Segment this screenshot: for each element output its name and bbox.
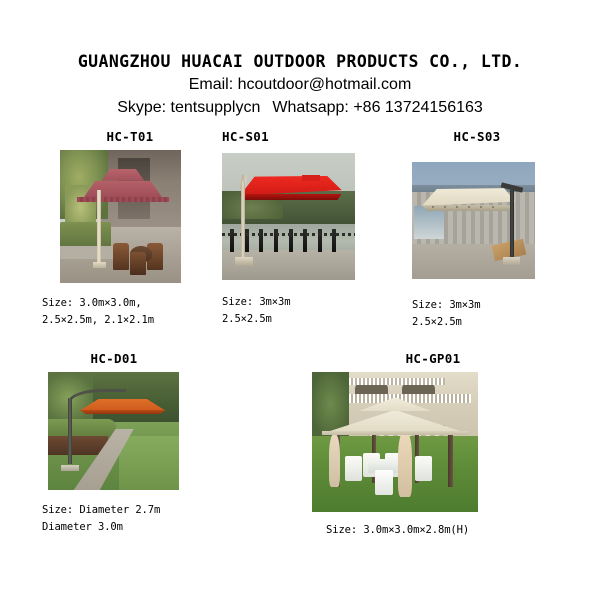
size-block: Size: 3m×3m 2.5×2.5m	[412, 297, 587, 331]
size-line: Size: 3m×3m	[222, 294, 402, 311]
umbrella-base	[61, 465, 79, 471]
email-line: Email: hcoutdoor@hotmail.com	[0, 72, 600, 95]
umbrella-pole	[68, 398, 72, 464]
white-chair	[345, 456, 362, 481]
umbrella-base	[235, 257, 254, 266]
size-line: 2.5×2.5m	[222, 311, 402, 328]
lawn-right-layer	[119, 436, 179, 490]
gazebo-drape	[398, 432, 411, 496]
umbrella-vent	[302, 175, 321, 181]
umbrella-base	[93, 262, 106, 269]
white-chair-front	[375, 470, 393, 495]
villa-balcony-lower	[345, 394, 471, 402]
size-line: 2.5×2.5m	[412, 314, 587, 331]
product-code-label: HC-D01	[44, 352, 184, 366]
product-card-hc-t01: HC-T01 Size: 3.0m×3.0m, 2.5×2.5m, 2.1×2.…	[40, 130, 220, 329]
villa-balcony-upper	[345, 378, 445, 385]
umbrella-canopy-shadow	[238, 194, 342, 200]
size-line: Size: Diameter 2.7m	[42, 502, 242, 519]
product-code-label: HC-T01	[60, 130, 200, 144]
product-photo-hc-s03	[412, 162, 535, 279]
size-block: Size: 3m×3m 2.5×2.5m	[222, 294, 402, 328]
umbrella-pole	[97, 190, 101, 264]
gazebo-post	[448, 434, 453, 487]
photo-scene	[222, 153, 355, 280]
chair-left	[113, 243, 129, 270]
umbrella-ribs	[432, 206, 503, 208]
umbrella-base	[503, 257, 520, 265]
photo-scene	[412, 162, 535, 279]
whatsapp-label: Whatsapp: +86 13724156163	[272, 99, 482, 116]
umbrella-pole	[510, 190, 514, 258]
product-photo-hc-gp01	[312, 372, 478, 512]
photo-scene	[312, 372, 478, 512]
product-code-label: HC-S01	[222, 130, 402, 144]
size-line: Size: 3.0m×3.0m×2.8m(H)	[326, 522, 542, 539]
size-line: Size: 3m×3m	[412, 297, 587, 314]
size-line: Size: 3.0m×3.0m,	[42, 295, 220, 312]
gazebo-eave	[322, 431, 468, 435]
size-block: Size: Diameter 2.7m Diameter 3.0m	[42, 502, 242, 536]
size-line: Diameter 3.0m	[42, 519, 242, 536]
product-card-hc-s01: HC-S01	[222, 130, 402, 328]
photo-scene	[48, 372, 179, 490]
size-block: Size: 3.0m×3.0m×2.8m(H)	[312, 522, 542, 539]
truck-box-layer	[414, 206, 444, 239]
white-chair	[415, 456, 432, 481]
tree-layer	[312, 372, 349, 436]
company-header: GUANGZHOU HUACAI OUTDOOR PRODUCTS CO., L…	[0, 0, 600, 118]
size-line: 2.5×2.5m, 2.1×2.1m	[42, 312, 220, 329]
chair-front	[130, 252, 146, 275]
product-card-hc-gp01: HC-GP01 S	[312, 352, 542, 539]
product-card-hc-d01: HC-D01 Size: Diameter 2.7m Diameter 3.0m	[42, 352, 242, 536]
skype-label: Skype: tentsupplycn	[117, 99, 260, 116]
planter-layer	[60, 246, 113, 259]
product-card-hc-s03: HC-S03 Size: 3m×3m 2.5×2.5m	[412, 130, 587, 331]
photo-scene	[60, 150, 181, 283]
messaging-line: Skype: tentsupplycnWhatsapp: +86 1372415…	[0, 95, 600, 118]
umbrella-valance	[77, 197, 169, 202]
size-block: Size: 3.0m×3.0m, 2.5×2.5m, 2.1×2.1m	[40, 295, 220, 329]
gazebo-drape	[329, 434, 341, 487]
product-code-label: HC-S03	[412, 130, 542, 144]
mulch-bed-layer	[48, 436, 108, 455]
company-name: GUANGZHOU HUACAI OUTDOOR PRODUCTS CO., L…	[0, 0, 600, 72]
hedge-layer	[60, 222, 111, 249]
umbrella-pole	[241, 181, 246, 260]
product-photo-hc-s01	[222, 153, 355, 280]
product-photo-hc-d01	[48, 372, 179, 490]
umbrella-canopy-shadow	[79, 410, 165, 415]
product-code-label: HC-GP01	[350, 352, 516, 366]
product-photo-hc-t01	[60, 150, 181, 283]
